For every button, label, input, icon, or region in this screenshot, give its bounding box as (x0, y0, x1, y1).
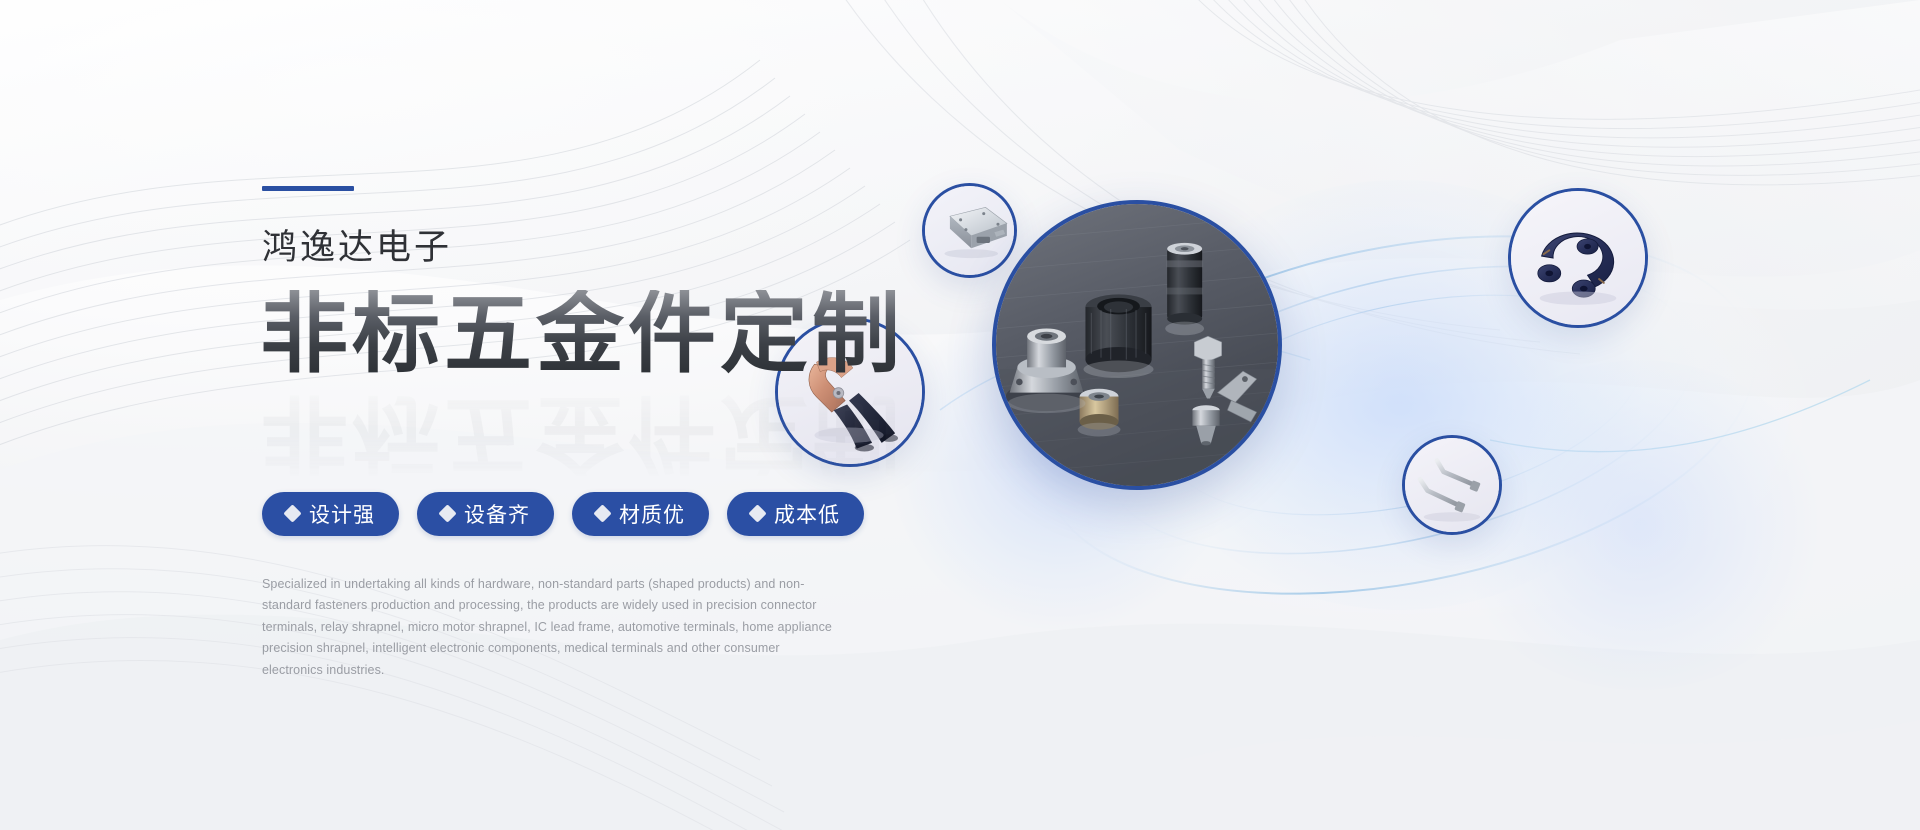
page-title: 非标五金件定制 (260, 290, 962, 378)
bent-terminals-image (1405, 438, 1499, 532)
headline-reflection: 非标五金件定制 (260, 390, 904, 478)
company-description: Specialized in undertaking all kinds of … (262, 574, 832, 682)
product-showcase (930, 110, 1880, 710)
product-bubble-precision-turned-connector-parts[interactable] (992, 200, 1282, 490)
feature-badge-label: 设计强 (309, 499, 375, 529)
feature-badge-label: 材质优 (619, 499, 685, 529)
accent-rule (262, 186, 354, 191)
feature-badge-material[interactable]: 材质优 (572, 492, 709, 536)
feature-badge-cost[interactable]: 成本低 (727, 492, 864, 536)
feature-badge-equipment[interactable]: 设备齐 (417, 492, 554, 536)
precision-parts-image (996, 204, 1278, 486)
brand-name: 鸿逸达电子 (262, 229, 962, 268)
feature-badge-design[interactable]: 设计强 (262, 492, 399, 536)
diamond-icon (748, 504, 766, 522)
feature-badge-label: 成本低 (774, 499, 840, 529)
diamond-icon (283, 504, 301, 522)
feature-badge-label: 设备齐 (464, 499, 530, 529)
feature-badge-list: 设计强 设备齐 材质优 成本低 (262, 492, 962, 536)
diamond-icon (438, 504, 456, 522)
product-bubble-bent-metal-terminals[interactable] (1402, 435, 1502, 535)
retaining-ring-image (1511, 191, 1645, 325)
diamond-icon (593, 504, 611, 522)
headline-group: 非标五金件定制 非标五金件定制 (260, 290, 962, 440)
hero-copy-block: 鸿逸达电子 非标五金件定制 非标五金件定制 设计强 设备齐 材质优 成本低 (262, 186, 962, 681)
product-bubble-navy-retaining-ring[interactable] (1508, 188, 1648, 328)
hero-banner: 鸿逸达电子 非标五金件定制 非标五金件定制 设计强 设备齐 材质优 成本低 (0, 0, 1920, 830)
